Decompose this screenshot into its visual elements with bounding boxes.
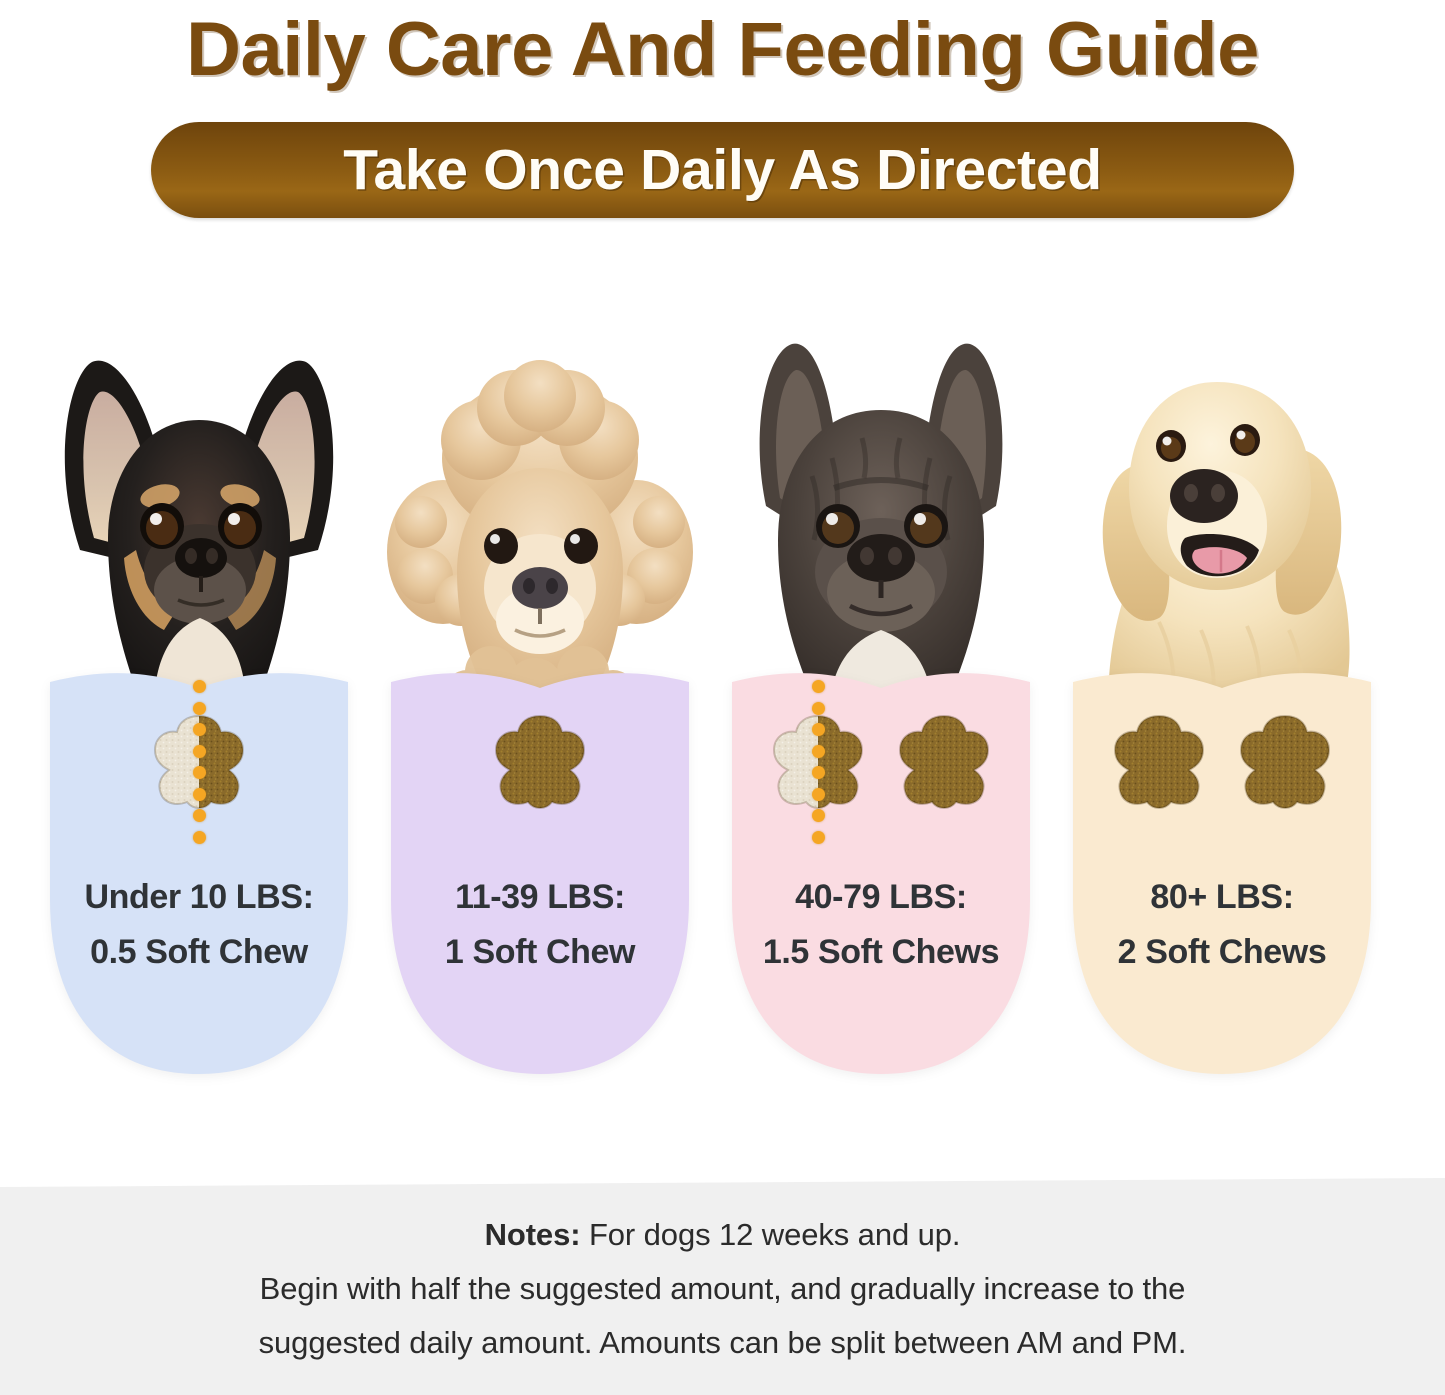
notes-line-1-text: For dogs 12 weeks and up. bbox=[580, 1217, 960, 1252]
page-title: Daily Care And Feeding Guide bbox=[0, 6, 1445, 93]
chew-illustrations-under-10-lbs bbox=[44, 685, 354, 835]
dog-photo-french-bulldog bbox=[726, 300, 1036, 700]
dosage-label-80-plus-lbs: 80+ LBS: 2 Soft Chews bbox=[1067, 870, 1377, 980]
chew-illustrations-40-79-lbs bbox=[726, 685, 1036, 835]
chew-illustrations-80-plus-lbs bbox=[1067, 685, 1377, 835]
weight-range-label: Under 10 LBS: bbox=[44, 870, 354, 925]
dosage-card-under-10-lbs: Under 10 LBS: 0.5 Soft Chew bbox=[44, 300, 374, 1100]
notes-label: Notes: bbox=[485, 1217, 581, 1252]
dog-photo-poodle bbox=[385, 300, 695, 700]
weight-range-label: 11-39 LBS: bbox=[385, 870, 695, 925]
dog-photo-golden-retriever bbox=[1067, 300, 1377, 700]
directions-banner-text: Take Once Daily As Directed bbox=[343, 137, 1102, 203]
weight-range-label: 40-79 LBS: bbox=[726, 870, 1036, 925]
notes-text-block: Notes: For dogs 12 weeks and up. Begin w… bbox=[0, 1208, 1445, 1370]
full-soft-chew-icon bbox=[488, 708, 592, 812]
dosage-card-40-79-lbs: 40-79 LBS: 1.5 Soft Chews bbox=[726, 300, 1056, 1100]
full-soft-chew-icon bbox=[892, 708, 996, 812]
dog-photo-chihuahua bbox=[44, 300, 354, 700]
half-soft-chew-icon bbox=[766, 708, 870, 812]
directions-banner: Take Once Daily As Directed bbox=[151, 122, 1294, 218]
notes-line-1: Notes: For dogs 12 weeks and up. bbox=[0, 1208, 1445, 1262]
half-soft-chew-icon bbox=[147, 708, 251, 812]
notes-footer-band: Notes: For dogs 12 weeks and up. Begin w… bbox=[0, 1178, 1445, 1395]
dosage-label-under-10-lbs: Under 10 LBS: 0.5 Soft Chew bbox=[44, 870, 354, 980]
dosage-card-80-plus-lbs: 80+ LBS: 2 Soft Chews bbox=[1067, 300, 1397, 1100]
dose-amount-label: 1 Soft Chew bbox=[385, 925, 695, 980]
dosage-card-row: Under 10 LBS: 0.5 Soft Chew bbox=[0, 300, 1445, 1100]
dose-amount-label: 1.5 Soft Chews bbox=[726, 925, 1036, 980]
dosage-card-11-39-lbs: 11-39 LBS: 1 Soft Chew bbox=[385, 300, 715, 1100]
full-soft-chew-icon bbox=[1107, 708, 1211, 812]
dose-amount-label: 0.5 Soft Chew bbox=[44, 925, 354, 980]
dose-amount-label: 2 Soft Chews bbox=[1067, 925, 1377, 980]
dosage-label-40-79-lbs: 40-79 LBS: 1.5 Soft Chews bbox=[726, 870, 1036, 980]
feeding-guide-infographic: Daily Care And Feeding Guide Take Once D… bbox=[0, 0, 1445, 1395]
notes-line-2: Begin with half the suggested amount, an… bbox=[0, 1262, 1445, 1316]
chew-illustrations-11-39-lbs bbox=[385, 685, 695, 835]
full-soft-chew-icon bbox=[1233, 708, 1337, 812]
notes-line-3: suggested daily amount. Amounts can be s… bbox=[0, 1316, 1445, 1370]
dosage-label-11-39-lbs: 11-39 LBS: 1 Soft Chew bbox=[385, 870, 695, 980]
weight-range-label: 80+ LBS: bbox=[1067, 870, 1377, 925]
